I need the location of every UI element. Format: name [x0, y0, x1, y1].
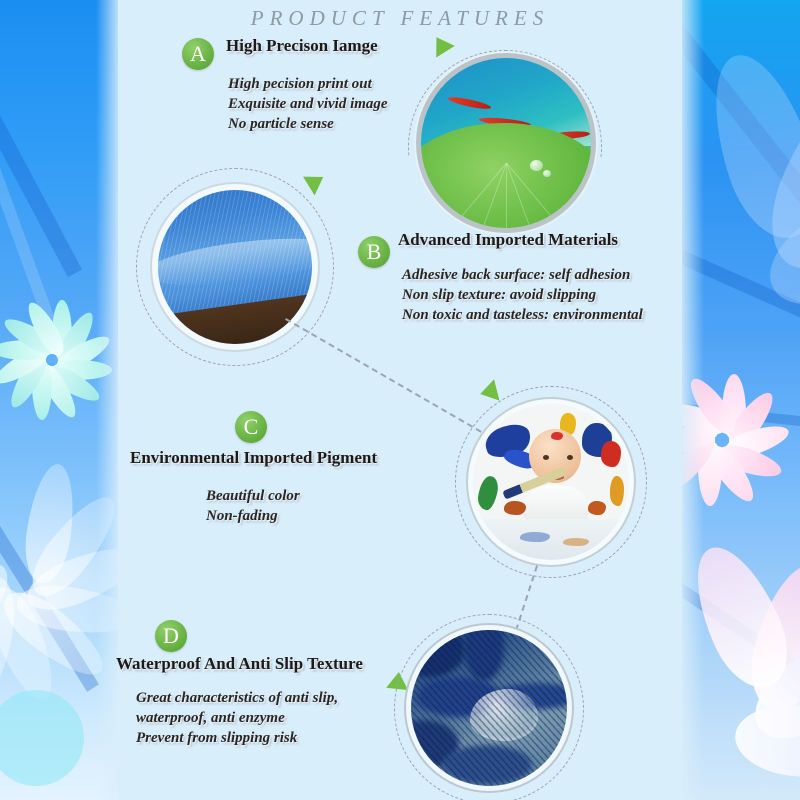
- bullets-d: Great characteristics of anti slip, wate…: [136, 688, 338, 748]
- bullet-a-3: No particle sense: [228, 114, 388, 134]
- bullet-b-1: Adhesive back surface: self adhesion: [402, 265, 643, 285]
- bullet-d-1: Great characteristics of anti slip,: [136, 688, 338, 708]
- bullet-a-2: Exquisite and vivid image: [228, 94, 388, 114]
- arrow-a-icon: [427, 31, 455, 57]
- bullet-b-2: Non slip texture: avoid slipping: [402, 285, 643, 305]
- badge-a: A: [182, 38, 214, 70]
- right-decorative-band: [678, 0, 800, 800]
- heading-c: Environmental Imported Pigment: [130, 448, 377, 468]
- koi-pond-lotus-leaf-photo: [421, 58, 591, 228]
- bullets-a: High pecision print out Exquisite and vi…: [228, 74, 388, 134]
- content-panel: PRODUCT FEATURES A High Precison Iamge H…: [118, 0, 682, 800]
- bullets-c: Beautiful color Non-fading: [206, 486, 300, 526]
- connector-b-to-c: [285, 318, 499, 443]
- page-title: PRODUCT FEATURES: [118, 6, 682, 31]
- bullet-c-2: Non-fading: [206, 506, 300, 526]
- bullet-a-1: High pecision print out: [228, 74, 388, 94]
- bullet-d-2: waterproof, anti enzyme: [136, 708, 338, 728]
- bullets-b: Adhesive back surface: self adhesion Non…: [402, 265, 643, 325]
- bullet-c-1: Beautiful color: [206, 486, 300, 506]
- baby-painting-photo: [473, 404, 629, 560]
- badge-b: B: [358, 236, 390, 268]
- heading-d: Waterproof And Anti Slip Texture: [116, 654, 363, 674]
- heading-b: Advanced Imported Materials: [398, 230, 618, 250]
- bullet-b-3: Non toxic and tasteless: environmental: [402, 305, 643, 325]
- arrow-c-icon: [478, 379, 500, 404]
- heading-a: High Precison Iamge: [226, 36, 378, 56]
- waterproof-texture-droplet-photo: [411, 630, 567, 786]
- product-features-poster: PRODUCT FEATURES A High Precison Iamge H…: [0, 0, 800, 800]
- bullet-d-3: Prevent from slipping risk: [136, 728, 338, 748]
- badge-d: D: [155, 620, 187, 652]
- left-decorative-band: [0, 0, 122, 800]
- badge-c: C: [235, 411, 267, 443]
